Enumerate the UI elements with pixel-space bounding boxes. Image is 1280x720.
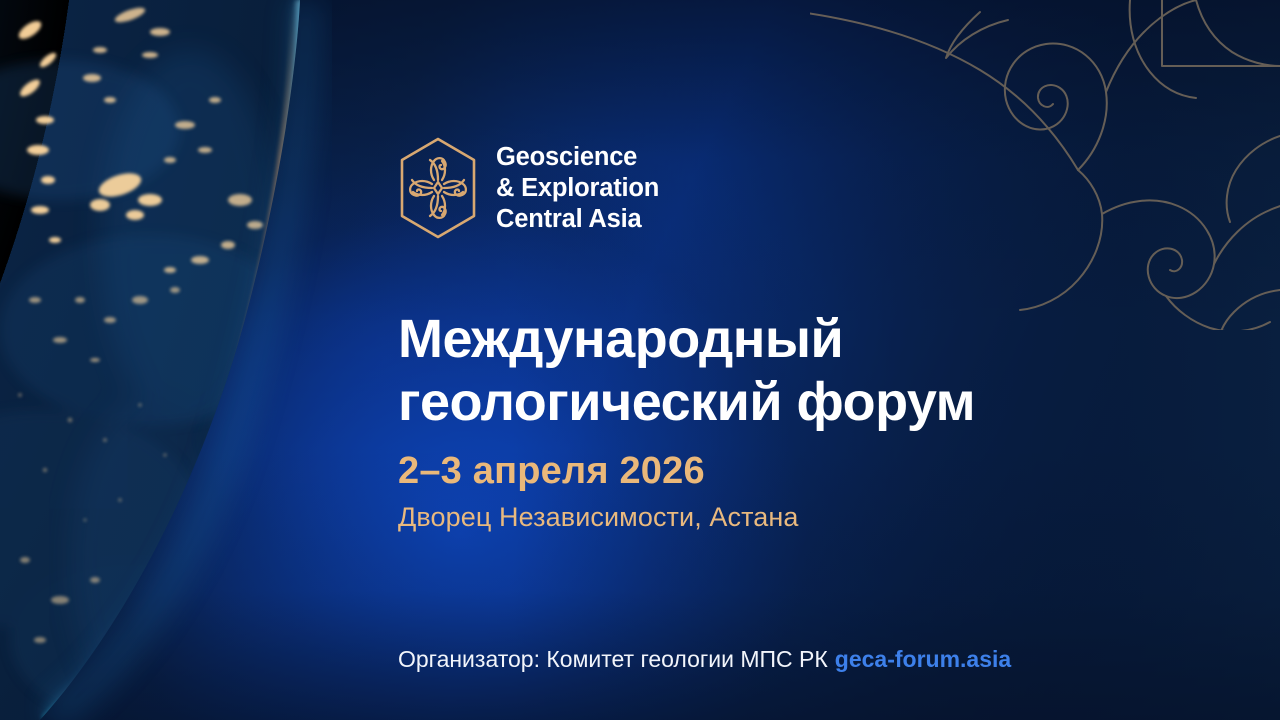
promo-banner: Geoscience & Exploration Central Asia Ме… — [0, 0, 1280, 720]
page-title: Международный геологический форум — [398, 308, 975, 434]
event-venue: Дворец Независимости, Астана — [398, 502, 799, 533]
organizer-label: Организатор: Комитет геологии МПС РК — [398, 646, 828, 672]
headline-line-2: геологический форум — [398, 371, 975, 434]
website-link[interactable]: geca-forum.asia — [835, 646, 1011, 672]
logo-line-3: Central Asia — [496, 204, 659, 235]
geca-hexagon-ornament-emblem-icon — [396, 136, 480, 240]
logo-line-1: Geoscience — [496, 142, 659, 173]
earth-from-space-night-lights — [0, 0, 420, 720]
content-column: Geoscience & Exploration Central Asia Ме… — [396, 0, 1216, 720]
logo-line-2: & Exploration — [496, 173, 659, 204]
brand-logo[interactable]: Geoscience & Exploration Central Asia — [396, 136, 659, 240]
brand-logo-text: Geoscience & Exploration Central Asia — [496, 142, 659, 235]
footer-line: Организатор: Комитет геологии МПС РКgeca… — [398, 645, 1011, 673]
headline-line-1: Международный — [398, 308, 975, 371]
event-date: 2–3 апреля 2026 — [398, 450, 705, 493]
